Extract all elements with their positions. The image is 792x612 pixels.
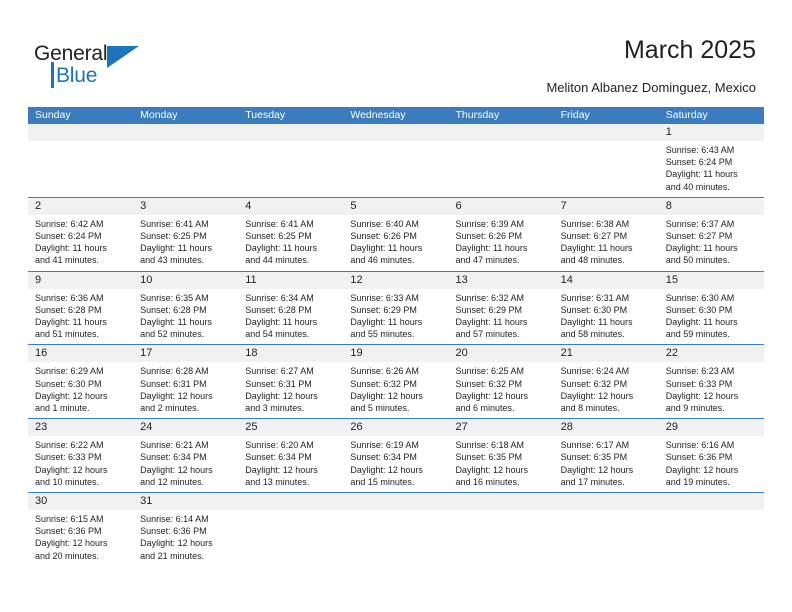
day-cell[interactable]: Sunrise: 6:24 AMSunset: 6:32 PMDaylight:… bbox=[554, 362, 659, 418]
day-number bbox=[343, 493, 448, 510]
day-sunrise-text: Sunrise: 6:36 AM bbox=[35, 292, 127, 304]
day-sunset-text: Sunset: 6:34 PM bbox=[140, 451, 232, 463]
day-sunrise-text: Sunrise: 6:33 AM bbox=[350, 292, 442, 304]
day-cell[interactable]: Sunrise: 6:26 AMSunset: 6:32 PMDaylight:… bbox=[343, 362, 448, 418]
day-daylight-text: Daylight: 12 hours bbox=[35, 537, 127, 549]
week-day-numbers: 1 bbox=[28, 124, 764, 141]
day-sunset-text: Sunset: 6:26 PM bbox=[350, 230, 442, 242]
day-number[interactable]: 28 bbox=[554, 419, 659, 436]
calendar-week-row: 9101112131415Sunrise: 6:36 AMSunset: 6:2… bbox=[28, 272, 764, 346]
day-cell[interactable]: Sunrise: 6:21 AMSunset: 6:34 PMDaylight:… bbox=[133, 436, 238, 492]
day-sunset-text: Sunset: 6:33 PM bbox=[666, 378, 758, 390]
day-sunset-text: Sunset: 6:27 PM bbox=[561, 230, 653, 242]
page-header: General Blue March 2025 Meliton Albanez … bbox=[0, 0, 792, 105]
day-daylight-text: Daylight: 12 hours bbox=[561, 464, 653, 476]
day-sunrise-text: Sunrise: 6:41 AM bbox=[140, 218, 232, 230]
day-daylight-text: Daylight: 11 hours bbox=[666, 316, 758, 328]
day-sunset-text: Sunset: 6:35 PM bbox=[456, 451, 548, 463]
day-of-week-header: Thursday bbox=[449, 107, 554, 124]
day-cell[interactable]: Sunrise: 6:34 AMSunset: 6:28 PMDaylight:… bbox=[238, 289, 343, 345]
calendar-week-row: 2345678Sunrise: 6:42 AMSunset: 6:24 PMDa… bbox=[28, 198, 764, 272]
day-cell[interactable]: Sunrise: 6:16 AMSunset: 6:36 PMDaylight:… bbox=[659, 436, 764, 492]
day-sunset-text: Sunset: 6:30 PM bbox=[561, 304, 653, 316]
day-daylight-text: Daylight: 12 hours bbox=[140, 390, 232, 402]
day-number[interactable]: 21 bbox=[554, 345, 659, 362]
day-number[interactable]: 19 bbox=[343, 345, 448, 362]
day-daylight-cont-text: and 2 minutes. bbox=[140, 402, 232, 414]
day-daylight-text: Daylight: 12 hours bbox=[456, 390, 548, 402]
day-sunrise-text: Sunrise: 6:22 AM bbox=[35, 439, 127, 451]
page-subtitle: Meliton Albanez Dominguez, Mexico bbox=[546, 80, 756, 96]
day-number[interactable]: 3 bbox=[133, 198, 238, 215]
day-of-week-header: Tuesday bbox=[238, 107, 343, 124]
general-blue-logo[interactable]: General Blue bbox=[34, 41, 154, 93]
day-sunset-text: Sunset: 6:31 PM bbox=[140, 378, 232, 390]
day-of-week-header: Friday bbox=[554, 107, 659, 124]
day-daylight-text: Daylight: 12 hours bbox=[140, 537, 232, 549]
day-daylight-text: Daylight: 12 hours bbox=[561, 390, 653, 402]
day-number[interactable]: 10 bbox=[133, 272, 238, 289]
day-number[interactable]: 15 bbox=[659, 272, 764, 289]
day-cell bbox=[449, 141, 554, 197]
day-daylight-cont-text: and 59 minutes. bbox=[666, 328, 758, 340]
day-number[interactable]: 30 bbox=[28, 493, 133, 510]
day-of-week-header: Saturday bbox=[659, 107, 764, 124]
calendar-page: General Blue March 2025 Meliton Albanez … bbox=[0, 0, 792, 612]
day-sunrise-text: Sunrise: 6:42 AM bbox=[35, 218, 127, 230]
day-of-week-header: Monday bbox=[133, 107, 238, 124]
day-daylight-cont-text: and 48 minutes. bbox=[561, 254, 653, 266]
day-daylight-cont-text: and 51 minutes. bbox=[35, 328, 127, 340]
calendar-week-row: 23242526272829Sunrise: 6:22 AMSunset: 6:… bbox=[28, 419, 764, 493]
day-sunset-text: Sunset: 6:28 PM bbox=[140, 304, 232, 316]
week-day-numbers: 3031 bbox=[28, 493, 764, 510]
day-daylight-text: Daylight: 11 hours bbox=[140, 242, 232, 254]
day-cell[interactable]: Sunrise: 6:37 AMSunset: 6:27 PMDaylight:… bbox=[659, 215, 764, 271]
day-sunrise-text: Sunrise: 6:29 AM bbox=[35, 365, 127, 377]
day-daylight-cont-text: and 21 minutes. bbox=[140, 550, 232, 562]
day-daylight-cont-text: and 50 minutes. bbox=[666, 254, 758, 266]
day-daylight-text: Daylight: 11 hours bbox=[350, 242, 442, 254]
week-day-details: Sunrise: 6:15 AMSunset: 6:36 PMDaylight:… bbox=[28, 510, 764, 566]
day-sunrise-text: Sunrise: 6:18 AM bbox=[456, 439, 548, 451]
calendar-week-row: 1Sunrise: 6:43 AMSunset: 6:24 PMDaylight… bbox=[28, 124, 764, 198]
day-daylight-text: Daylight: 11 hours bbox=[561, 242, 653, 254]
day-cell[interactable]: Sunrise: 6:27 AMSunset: 6:31 PMDaylight:… bbox=[238, 362, 343, 418]
day-sunset-text: Sunset: 6:34 PM bbox=[350, 451, 442, 463]
day-number[interactable]: 18 bbox=[238, 345, 343, 362]
day-number[interactable]: 8 bbox=[659, 198, 764, 215]
day-daylight-text: Daylight: 11 hours bbox=[245, 242, 337, 254]
day-cell[interactable]: Sunrise: 6:28 AMSunset: 6:31 PMDaylight:… bbox=[133, 362, 238, 418]
day-sunrise-text: Sunrise: 6:17 AM bbox=[561, 439, 653, 451]
day-sunset-text: Sunset: 6:36 PM bbox=[666, 451, 758, 463]
day-cell[interactable]: Sunrise: 6:30 AMSunset: 6:30 PMDaylight:… bbox=[659, 289, 764, 345]
day-cell[interactable]: Sunrise: 6:41 AMSunset: 6:25 PMDaylight:… bbox=[133, 215, 238, 271]
day-daylight-cont-text: and 1 minute. bbox=[35, 402, 127, 414]
day-cell[interactable]: Sunrise: 6:40 AMSunset: 6:26 PMDaylight:… bbox=[343, 215, 448, 271]
day-daylight-cont-text: and 3 minutes. bbox=[245, 402, 337, 414]
day-daylight-cont-text: and 20 minutes. bbox=[35, 550, 127, 562]
day-number bbox=[238, 124, 343, 141]
day-sunset-text: Sunset: 6:36 PM bbox=[35, 525, 127, 537]
day-sunset-text: Sunset: 6:26 PM bbox=[456, 230, 548, 242]
day-sunset-text: Sunset: 6:29 PM bbox=[456, 304, 548, 316]
day-sunset-text: Sunset: 6:24 PM bbox=[35, 230, 127, 242]
day-cell bbox=[554, 141, 659, 197]
day-cell[interactable]: Sunrise: 6:43 AMSunset: 6:24 PMDaylight:… bbox=[659, 141, 764, 197]
day-sunrise-text: Sunrise: 6:38 AM bbox=[561, 218, 653, 230]
day-of-week-header-row: SundayMondayTuesdayWednesdayThursdayFrid… bbox=[28, 107, 764, 124]
day-number[interactable]: 20 bbox=[449, 345, 554, 362]
day-cell[interactable]: Sunrise: 6:19 AMSunset: 6:34 PMDaylight:… bbox=[343, 436, 448, 492]
day-daylight-cont-text: and 12 minutes. bbox=[140, 476, 232, 488]
day-of-week-header: Wednesday bbox=[343, 107, 448, 124]
day-sunrise-text: Sunrise: 6:14 AM bbox=[140, 513, 232, 525]
day-daylight-cont-text: and 55 minutes. bbox=[350, 328, 442, 340]
day-cell bbox=[133, 141, 238, 197]
day-sunrise-text: Sunrise: 6:20 AM bbox=[245, 439, 337, 451]
day-cell[interactable]: Sunrise: 6:38 AMSunset: 6:27 PMDaylight:… bbox=[554, 215, 659, 271]
day-daylight-cont-text: and 40 minutes. bbox=[666, 181, 758, 193]
logo-bar-icon bbox=[51, 62, 54, 88]
day-daylight-text: Daylight: 12 hours bbox=[350, 390, 442, 402]
calendar-grid: SundayMondayTuesdayWednesdayThursdayFrid… bbox=[28, 107, 764, 566]
day-daylight-cont-text: and 13 minutes. bbox=[245, 476, 337, 488]
day-number[interactable]: 4 bbox=[238, 198, 343, 215]
week-day-details: Sunrise: 6:42 AMSunset: 6:24 PMDaylight:… bbox=[28, 215, 764, 271]
day-number[interactable]: 5 bbox=[343, 198, 448, 215]
day-sunrise-text: Sunrise: 6:15 AM bbox=[35, 513, 127, 525]
week-day-numbers: 2345678 bbox=[28, 198, 764, 215]
day-sunrise-text: Sunrise: 6:25 AM bbox=[456, 365, 548, 377]
day-sunset-text: Sunset: 6:25 PM bbox=[140, 230, 232, 242]
day-sunset-text: Sunset: 6:28 PM bbox=[245, 304, 337, 316]
page-title: March 2025 bbox=[624, 35, 756, 65]
day-daylight-cont-text: and 43 minutes. bbox=[140, 254, 232, 266]
day-daylight-cont-text: and 41 minutes. bbox=[35, 254, 127, 266]
day-sunset-text: Sunset: 6:30 PM bbox=[35, 378, 127, 390]
day-cell[interactable]: Sunrise: 6:41 AMSunset: 6:25 PMDaylight:… bbox=[238, 215, 343, 271]
logo-text-blue: Blue bbox=[56, 63, 97, 88]
day-cell[interactable]: Sunrise: 6:29 AMSunset: 6:30 PMDaylight:… bbox=[28, 362, 133, 418]
day-number[interactable]: 24 bbox=[133, 419, 238, 436]
day-daylight-text: Daylight: 12 hours bbox=[350, 464, 442, 476]
day-cell[interactable]: Sunrise: 6:31 AMSunset: 6:30 PMDaylight:… bbox=[554, 289, 659, 345]
day-cell bbox=[28, 141, 133, 197]
day-sunset-text: Sunset: 6:32 PM bbox=[456, 378, 548, 390]
day-sunrise-text: Sunrise: 6:34 AM bbox=[245, 292, 337, 304]
day-sunset-text: Sunset: 6:36 PM bbox=[140, 525, 232, 537]
week-day-numbers: 23242526272829 bbox=[28, 419, 764, 436]
day-number[interactable]: 29 bbox=[659, 419, 764, 436]
day-cell[interactable]: Sunrise: 6:20 AMSunset: 6:34 PMDaylight:… bbox=[238, 436, 343, 492]
day-sunrise-text: Sunrise: 6:24 AM bbox=[561, 365, 653, 377]
day-sunset-text: Sunset: 6:31 PM bbox=[245, 378, 337, 390]
day-sunset-text: Sunset: 6:33 PM bbox=[35, 451, 127, 463]
day-number[interactable]: 1 bbox=[659, 124, 764, 141]
day-number[interactable]: 14 bbox=[554, 272, 659, 289]
day-number[interactable]: 7 bbox=[554, 198, 659, 215]
day-sunrise-text: Sunrise: 6:26 AM bbox=[350, 365, 442, 377]
day-daylight-cont-text: and 6 minutes. bbox=[456, 402, 548, 414]
day-sunrise-text: Sunrise: 6:27 AM bbox=[245, 365, 337, 377]
day-number bbox=[449, 493, 554, 510]
day-cell[interactable]: Sunrise: 6:14 AMSunset: 6:36 PMDaylight:… bbox=[133, 510, 238, 566]
day-daylight-text: Daylight: 11 hours bbox=[140, 316, 232, 328]
day-cell[interactable]: Sunrise: 6:32 AMSunset: 6:29 PMDaylight:… bbox=[449, 289, 554, 345]
day-number[interactable]: 13 bbox=[449, 272, 554, 289]
day-number bbox=[449, 124, 554, 141]
day-daylight-cont-text: and 44 minutes. bbox=[245, 254, 337, 266]
day-sunset-text: Sunset: 6:32 PM bbox=[561, 378, 653, 390]
day-cell[interactable]: Sunrise: 6:33 AMSunset: 6:29 PMDaylight:… bbox=[343, 289, 448, 345]
day-daylight-cont-text: and 58 minutes. bbox=[561, 328, 653, 340]
day-daylight-cont-text: and 57 minutes. bbox=[456, 328, 548, 340]
day-daylight-text: Daylight: 11 hours bbox=[456, 316, 548, 328]
day-cell[interactable]: Sunrise: 6:17 AMSunset: 6:35 PMDaylight:… bbox=[554, 436, 659, 492]
day-sunrise-text: Sunrise: 6:28 AM bbox=[140, 365, 232, 377]
day-daylight-cont-text: and 47 minutes. bbox=[456, 254, 548, 266]
day-number[interactable]: 31 bbox=[133, 493, 238, 510]
day-sunset-text: Sunset: 6:25 PM bbox=[245, 230, 337, 242]
day-daylight-cont-text: and 8 minutes. bbox=[561, 402, 653, 414]
day-daylight-cont-text: and 16 minutes. bbox=[456, 476, 548, 488]
day-daylight-text: Daylight: 12 hours bbox=[456, 464, 548, 476]
day-number[interactable]: 25 bbox=[238, 419, 343, 436]
week-day-details: Sunrise: 6:22 AMSunset: 6:33 PMDaylight:… bbox=[28, 436, 764, 492]
day-daylight-text: Daylight: 11 hours bbox=[456, 242, 548, 254]
day-cell[interactable]: Sunrise: 6:15 AMSunset: 6:36 PMDaylight:… bbox=[28, 510, 133, 566]
day-daylight-cont-text: and 52 minutes. bbox=[140, 328, 232, 340]
day-sunrise-text: Sunrise: 6:31 AM bbox=[561, 292, 653, 304]
day-number bbox=[343, 124, 448, 141]
day-daylight-text: Daylight: 11 hours bbox=[245, 316, 337, 328]
day-sunrise-text: Sunrise: 6:21 AM bbox=[140, 439, 232, 451]
day-daylight-text: Daylight: 12 hours bbox=[666, 390, 758, 402]
day-sunset-text: Sunset: 6:29 PM bbox=[350, 304, 442, 316]
day-cell[interactable]: Sunrise: 6:22 AMSunset: 6:33 PMDaylight:… bbox=[28, 436, 133, 492]
day-number[interactable]: 12 bbox=[343, 272, 448, 289]
day-sunrise-text: Sunrise: 6:43 AM bbox=[666, 144, 758, 156]
day-sunset-text: Sunset: 6:34 PM bbox=[245, 451, 337, 463]
day-daylight-text: Daylight: 11 hours bbox=[666, 242, 758, 254]
week-day-numbers: 9101112131415 bbox=[28, 272, 764, 289]
day-sunset-text: Sunset: 6:30 PM bbox=[666, 304, 758, 316]
calendar-week-row: 16171819202122Sunrise: 6:29 AMSunset: 6:… bbox=[28, 345, 764, 419]
day-number bbox=[659, 493, 764, 510]
calendar-week-row: 3031Sunrise: 6:15 AMSunset: 6:36 PMDayli… bbox=[28, 493, 764, 566]
day-number[interactable]: 23 bbox=[28, 419, 133, 436]
day-cell bbox=[449, 510, 554, 566]
day-sunset-text: Sunset: 6:28 PM bbox=[35, 304, 127, 316]
day-sunset-text: Sunset: 6:27 PM bbox=[666, 230, 758, 242]
day-daylight-text: Daylight: 11 hours bbox=[666, 168, 758, 180]
calendar-weeks: 1Sunrise: 6:43 AMSunset: 6:24 PMDaylight… bbox=[28, 124, 764, 566]
day-daylight-text: Daylight: 11 hours bbox=[350, 316, 442, 328]
day-sunset-text: Sunset: 6:35 PM bbox=[561, 451, 653, 463]
day-cell bbox=[238, 141, 343, 197]
day-cell[interactable]: Sunrise: 6:18 AMSunset: 6:35 PMDaylight:… bbox=[449, 436, 554, 492]
day-number[interactable]: 22 bbox=[659, 345, 764, 362]
day-daylight-text: Daylight: 12 hours bbox=[35, 464, 127, 476]
day-cell[interactable]: Sunrise: 6:25 AMSunset: 6:32 PMDaylight:… bbox=[449, 362, 554, 418]
day-sunrise-text: Sunrise: 6:35 AM bbox=[140, 292, 232, 304]
day-sunrise-text: Sunrise: 6:30 AM bbox=[666, 292, 758, 304]
day-cell[interactable]: Sunrise: 6:36 AMSunset: 6:28 PMDaylight:… bbox=[28, 289, 133, 345]
day-daylight-text: Daylight: 12 hours bbox=[35, 390, 127, 402]
day-number[interactable]: 17 bbox=[133, 345, 238, 362]
week-day-details: Sunrise: 6:36 AMSunset: 6:28 PMDaylight:… bbox=[28, 289, 764, 345]
day-sunrise-text: Sunrise: 6:37 AM bbox=[666, 218, 758, 230]
day-number[interactable]: 6 bbox=[449, 198, 554, 215]
day-cell bbox=[554, 510, 659, 566]
day-daylight-text: Daylight: 12 hours bbox=[666, 464, 758, 476]
day-number[interactable]: 16 bbox=[28, 345, 133, 362]
day-cell bbox=[343, 510, 448, 566]
day-number[interactable]: 27 bbox=[449, 419, 554, 436]
day-cell[interactable]: Sunrise: 6:42 AMSunset: 6:24 PMDaylight:… bbox=[28, 215, 133, 271]
day-sunrise-text: Sunrise: 6:23 AM bbox=[666, 365, 758, 377]
week-day-details: Sunrise: 6:43 AMSunset: 6:24 PMDaylight:… bbox=[28, 141, 764, 197]
day-sunset-text: Sunset: 6:32 PM bbox=[350, 378, 442, 390]
day-number bbox=[28, 124, 133, 141]
day-cell bbox=[659, 510, 764, 566]
day-daylight-cont-text: and 5 minutes. bbox=[350, 402, 442, 414]
day-sunrise-text: Sunrise: 6:39 AM bbox=[456, 218, 548, 230]
day-daylight-text: Daylight: 11 hours bbox=[35, 316, 127, 328]
week-day-details: Sunrise: 6:29 AMSunset: 6:30 PMDaylight:… bbox=[28, 362, 764, 418]
day-cell[interactable]: Sunrise: 6:39 AMSunset: 6:26 PMDaylight:… bbox=[449, 215, 554, 271]
day-of-week-header: Sunday bbox=[28, 107, 133, 124]
day-cell[interactable]: Sunrise: 6:35 AMSunset: 6:28 PMDaylight:… bbox=[133, 289, 238, 345]
day-number bbox=[238, 493, 343, 510]
day-number bbox=[554, 124, 659, 141]
day-sunrise-text: Sunrise: 6:41 AM bbox=[245, 218, 337, 230]
day-sunset-text: Sunset: 6:24 PM bbox=[666, 156, 758, 168]
day-daylight-cont-text: and 54 minutes. bbox=[245, 328, 337, 340]
day-number[interactable]: 11 bbox=[238, 272, 343, 289]
day-number[interactable]: 2 bbox=[28, 198, 133, 215]
day-daylight-text: Daylight: 12 hours bbox=[245, 390, 337, 402]
day-cell bbox=[238, 510, 343, 566]
day-number bbox=[554, 493, 659, 510]
day-daylight-text: Daylight: 12 hours bbox=[245, 464, 337, 476]
day-daylight-cont-text: and 19 minutes. bbox=[666, 476, 758, 488]
day-daylight-cont-text: and 46 minutes. bbox=[350, 254, 442, 266]
day-sunrise-text: Sunrise: 6:16 AM bbox=[666, 439, 758, 451]
day-sunrise-text: Sunrise: 6:32 AM bbox=[456, 292, 548, 304]
day-daylight-cont-text: and 17 minutes. bbox=[561, 476, 653, 488]
logo-triangle-icon bbox=[107, 46, 139, 68]
day-cell[interactable]: Sunrise: 6:23 AMSunset: 6:33 PMDaylight:… bbox=[659, 362, 764, 418]
day-daylight-text: Daylight: 11 hours bbox=[35, 242, 127, 254]
day-daylight-cont-text: and 15 minutes. bbox=[350, 476, 442, 488]
day-daylight-cont-text: and 10 minutes. bbox=[35, 476, 127, 488]
week-day-numbers: 16171819202122 bbox=[28, 345, 764, 362]
day-daylight-text: Daylight: 11 hours bbox=[561, 316, 653, 328]
day-daylight-text: Daylight: 12 hours bbox=[140, 464, 232, 476]
day-number[interactable]: 9 bbox=[28, 272, 133, 289]
day-sunrise-text: Sunrise: 6:19 AM bbox=[350, 439, 442, 451]
day-sunrise-text: Sunrise: 6:40 AM bbox=[350, 218, 442, 230]
day-daylight-cont-text: and 9 minutes. bbox=[666, 402, 758, 414]
day-cell bbox=[343, 141, 448, 197]
day-number bbox=[133, 124, 238, 141]
day-number[interactable]: 26 bbox=[343, 419, 448, 436]
